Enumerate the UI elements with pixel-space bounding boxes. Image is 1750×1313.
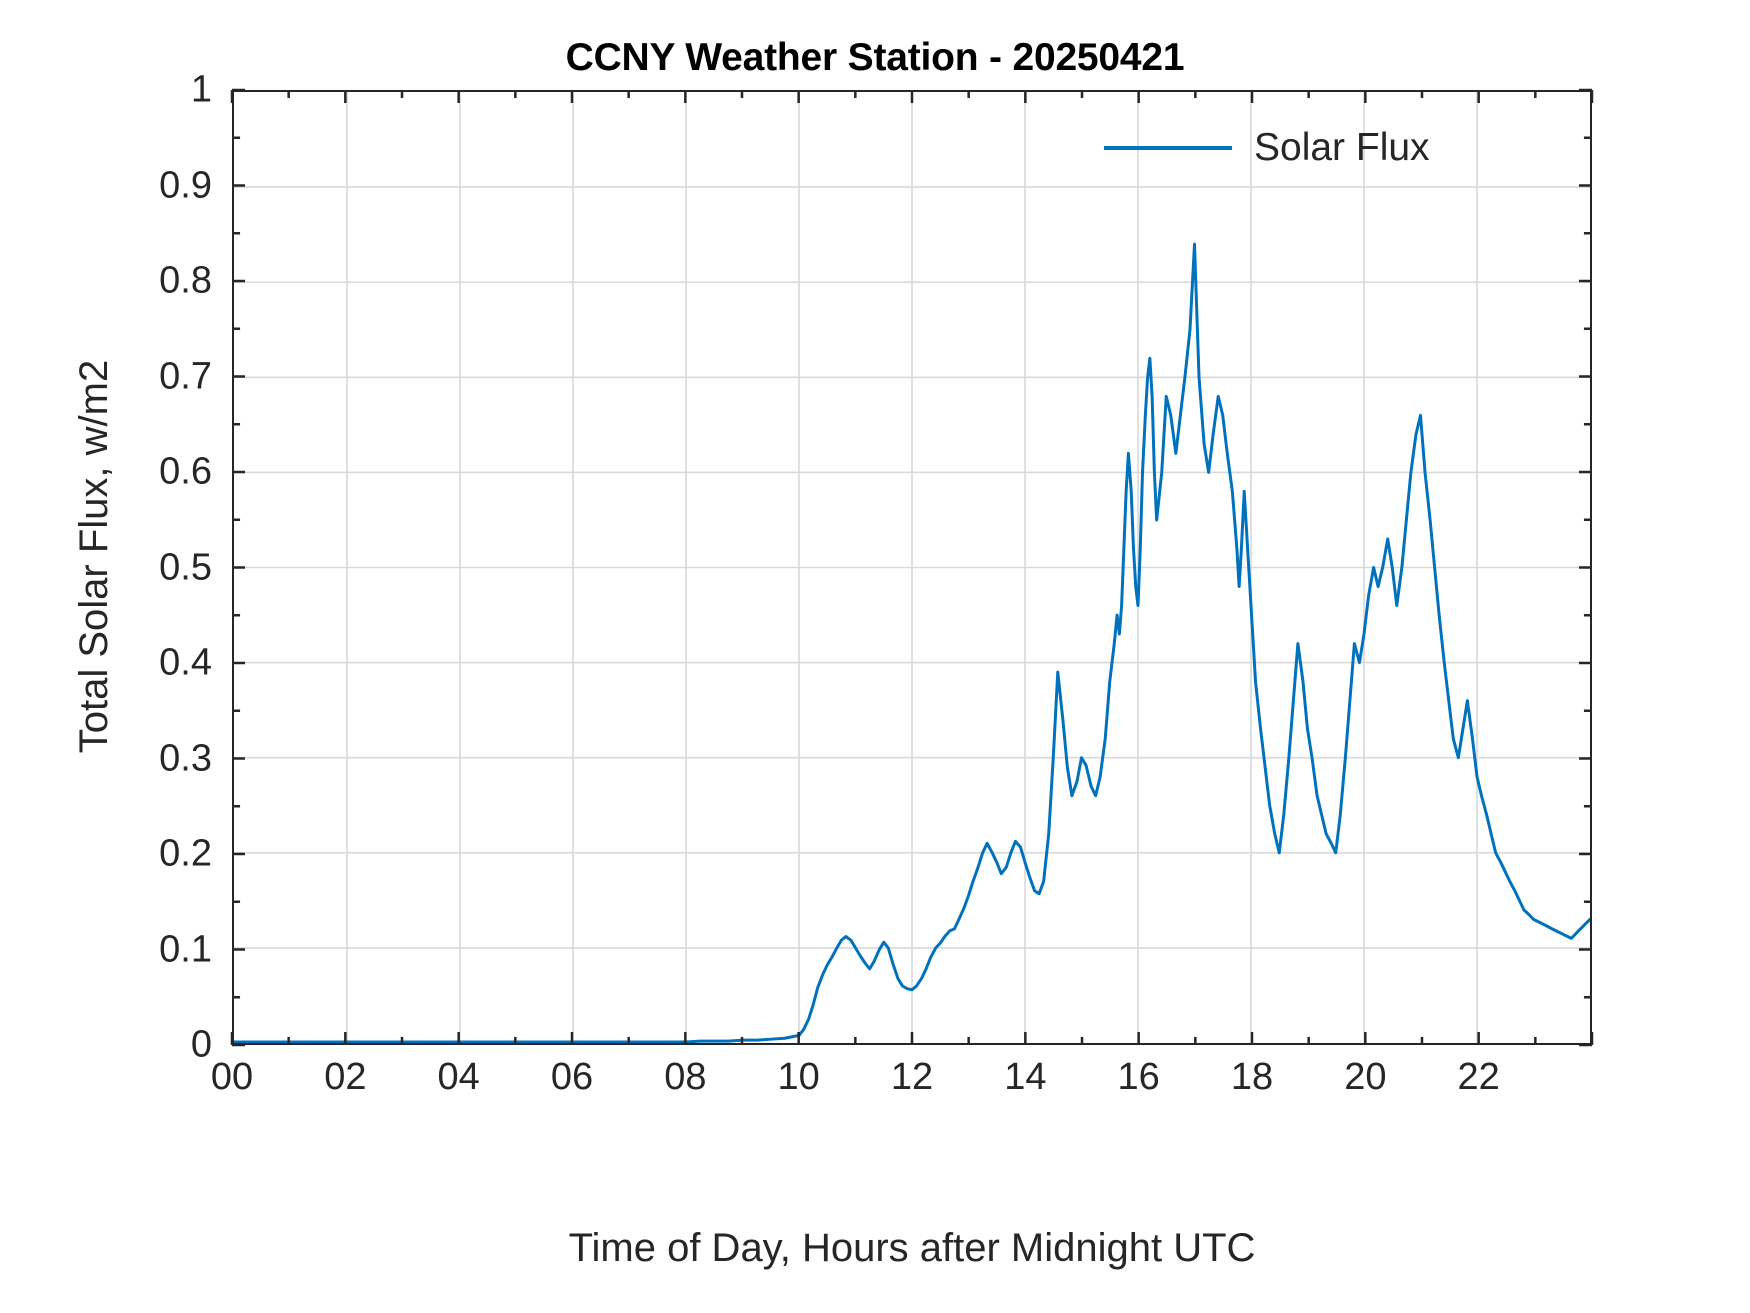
y-tick-label-0.5: 0.5 [40,546,212,589]
x-tick-label-02: 02 [285,1056,405,1099]
x-tick-label-06: 06 [512,1056,632,1099]
chart-title: CCNY Weather Station - 20250421 [0,36,1750,80]
x-axis-label: Time of Day, Hours after Midnight UTC [232,1226,1592,1271]
x-tick-label-04: 04 [399,1056,519,1099]
x-tick-label-22: 22 [1419,1056,1539,1099]
x-tick-label-20: 20 [1305,1056,1425,1099]
legend[interactable]: Solar Flux [1096,112,1566,184]
x-tick-label-14: 14 [965,1056,1085,1099]
figure-canvas: CCNY Weather Station - 20250421 00.10.20… [0,0,1750,1313]
data-line-solar-flux [234,244,1590,1042]
y-tick-label-0.2: 0.2 [40,833,212,876]
y-tick-label-0.6: 0.6 [40,451,212,494]
x-tick-label-00: 00 [172,1056,292,1099]
y-tick-label-0.4: 0.4 [40,642,212,685]
y-tick-label-1: 1 [40,69,212,112]
legend-line-swatch-solar-flux [1104,146,1232,150]
x-tick-label-10: 10 [739,1056,859,1099]
x-tick-label-18: 18 [1192,1056,1312,1099]
y-tick-label-0.8: 0.8 [40,260,212,303]
y-tick-label-0.1: 0.1 [40,928,212,971]
data-layer [234,92,1590,1043]
y-tick-label-0.3: 0.3 [40,737,212,780]
y-axis-label: Total Solar Flux, w/m2 [72,79,117,1034]
legend-label-solar-flux: Solar Flux [1254,126,1430,170]
y-tick-label-0.7: 0.7 [40,355,212,398]
plot-area [232,90,1592,1045]
x-tick-label-12: 12 [852,1056,972,1099]
x-tick-label-08: 08 [625,1056,745,1099]
y-tick-label-0.9: 0.9 [40,164,212,207]
x-tick-label-16: 16 [1079,1056,1199,1099]
